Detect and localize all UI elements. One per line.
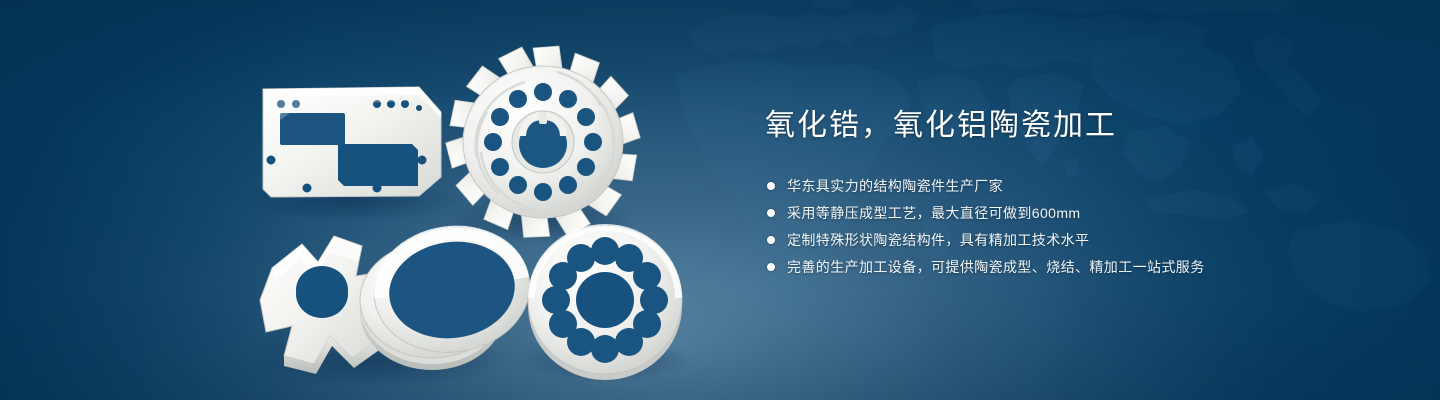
list-item: 定制特殊形状陶瓷结构件，具有精加工技术水平 [767, 231, 1385, 249]
list-item: 完善的生产加工设备，可提供陶瓷成型、烧结、精加工一站式服务 [767, 258, 1385, 276]
feature-text: 采用等静压成型工艺，最大直径可做到600mm [787, 204, 1080, 222]
list-item: 华东具实力的结构陶瓷件生产厂家 [767, 177, 1385, 195]
bullet-dot-icon [767, 209, 775, 217]
feature-text: 定制特殊形状陶瓷结构件，具有精加工技术水平 [787, 231, 1089, 249]
feature-list: 华东具实力的结构陶瓷件生产厂家 采用等静压成型工艺，最大直径可做到600mm 定… [767, 177, 1385, 276]
bullet-dot-icon [767, 263, 775, 271]
banner-copy: 氧化锆，氧化铝陶瓷加工 华东具实力的结构陶瓷件生产厂家 采用等静压成型工艺，最大… [765, 108, 1385, 285]
feature-text: 完善的生产加工设备，可提供陶瓷成型、烧结、精加工一站式服务 [787, 258, 1205, 276]
ceramic-plate-part [263, 87, 441, 197]
feature-text: 华东具实力的结构陶瓷件生产厂家 [787, 177, 1003, 195]
ceramic-flange-disc-part [528, 224, 682, 380]
ceramic-parts-artwork [0, 0, 740, 400]
hero-banner: 氧化锆，氧化铝陶瓷加工 华东具实力的结构陶瓷件生产厂家 采用等静压成型工艺，最大… [0, 0, 1440, 400]
bullet-dot-icon [767, 182, 775, 190]
banner-headline: 氧化锆，氧化铝陶瓷加工 [765, 108, 1385, 143]
bullet-dot-icon [767, 236, 775, 244]
list-item: 采用等静压成型工艺，最大直径可做到600mm [767, 204, 1385, 222]
